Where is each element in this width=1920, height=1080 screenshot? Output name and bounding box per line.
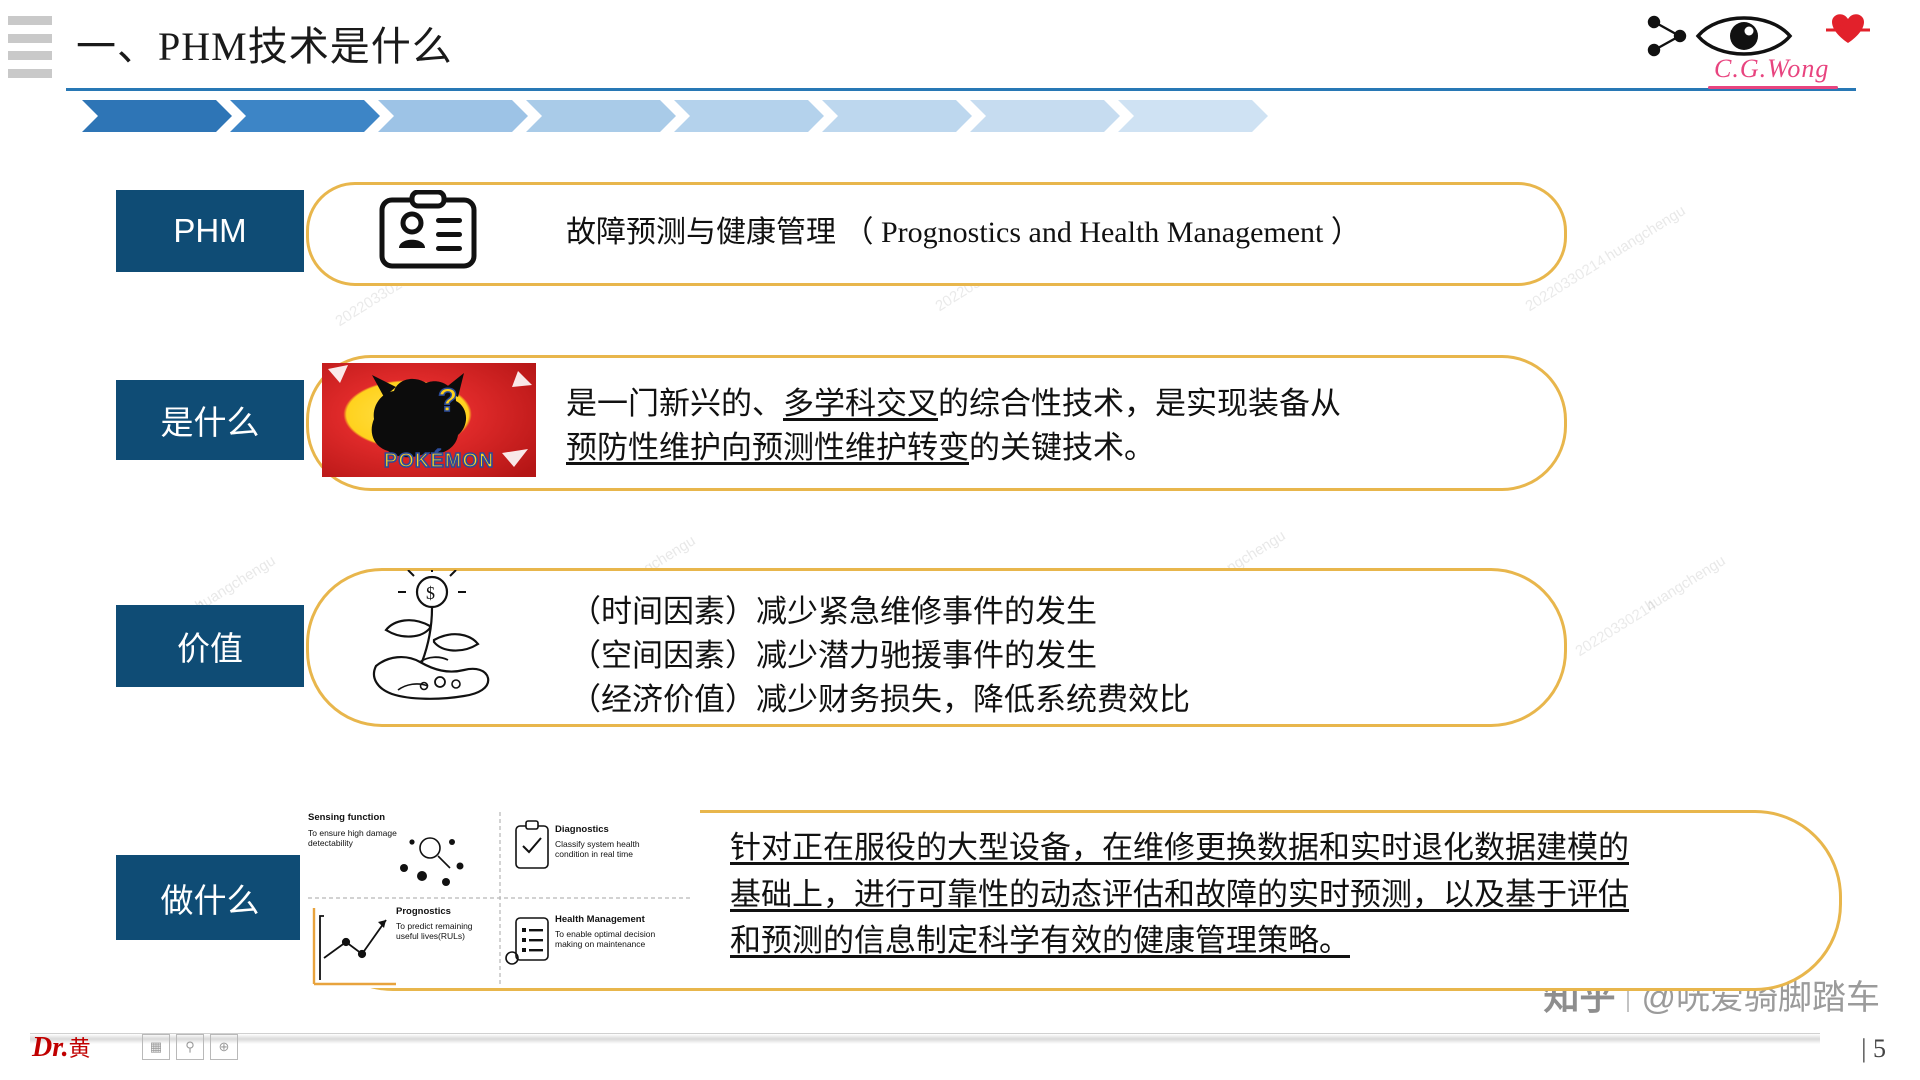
zoom-icon[interactable]: ⊕ [210, 1034, 238, 1060]
footer-brand-cn: 黄 [69, 1036, 91, 1061]
row-tag-label: 做什么 [161, 874, 260, 922]
row-tag-label: 价值 [177, 622, 243, 670]
what-line1-pre: 是一门新兴的、 [566, 386, 783, 421]
quadrant-1-text: Sensing function To ensure high damage d… [308, 812, 408, 848]
quadrant-4-body: To enable optimal decision making on mai… [555, 929, 670, 950]
ribbon-segment-1 [82, 100, 232, 132]
svg-text:POKÉMON: POKÉMON [384, 449, 494, 472]
row-text-phm: 故障预测与健康管理 （ Prognostics and Health Manag… [566, 212, 1361, 255]
brand-logo: C.G.Wong [1636, 10, 1886, 90]
logo-wordmark: C.G.Wong [1714, 54, 1829, 84]
ribbon-segment-7 [970, 100, 1120, 132]
chevron-ribbon [82, 100, 1262, 132]
ribbon-segment-4 [526, 100, 676, 132]
row-tag-do: 做什么 [116, 855, 304, 940]
page-number: | 5 [1861, 1034, 1886, 1064]
row-tag-label: PHM [173, 212, 246, 250]
watermark-text: 20220330214 [1572, 597, 1659, 660]
quadrant-4-title: Health Management [555, 914, 645, 925]
money-plant-hand-icon: $ [336, 570, 526, 725]
watermark-text: huangchengu [1602, 202, 1688, 265]
value-line: （空间因素）减少潜力驰援事件的发生 [570, 634, 1190, 678]
quadrant-4-text: Health Management To enable optimal deci… [555, 914, 670, 949]
slide-root: 一、PHM技术是什么 C.G.Wong [0, 0, 1920, 1080]
ribbon-segment-8 [1118, 100, 1268, 132]
search-icon[interactable]: ⚲ [176, 1034, 204, 1060]
row-text-line-2: 预防性维护向预测性维护转变的关键技术。 [566, 426, 1341, 470]
share-nodes-icon [1649, 17, 1685, 55]
quadrant-2-title: Diagnostics [555, 824, 609, 835]
svg-text:$: $ [426, 583, 435, 603]
ribbon-segment-2 [230, 100, 380, 132]
footer-brand: Dr.黄 [32, 1031, 91, 1064]
value-line: （经济价值）减少财务损失，降低系统费效比 [570, 678, 1190, 722]
phm-quadrant-diagram: Sensing function To ensure high damage d… [300, 808, 700, 988]
svg-text:?: ? [438, 382, 458, 418]
quadrant-3-text: Prognostics To predict remaining useful … [396, 906, 496, 941]
footer-brand-text: Dr. [32, 1032, 69, 1063]
what-line2-post: 的关键技术。 [969, 430, 1155, 465]
quadrant-1-body: To ensure high damage detectability [308, 828, 408, 849]
title-divider [66, 88, 1856, 91]
footer-divider [30, 1033, 1820, 1044]
do-line: 和预测的信息制定科学有效的健康管理策略。 [730, 918, 1629, 965]
grid-icon[interactable]: ▦ [142, 1034, 170, 1060]
quadrant-3-title: Prognostics [396, 906, 451, 917]
watermark-text: huangchengu [1642, 552, 1728, 615]
row-text-do: 针对正在服役的大型设备，在维修更换数据和实时退化数据建模的 基础上，进行可靠性的… [730, 825, 1629, 965]
quadrant-3-body: To predict remaining useful lives(RULs) [396, 921, 496, 942]
row-tag-label: 是什么 [161, 396, 260, 444]
do-line: 基础上，进行可靠性的动态评估和故障的实时预测，以及基于评估 [730, 872, 1629, 919]
eye-icon [1698, 18, 1790, 54]
id-badge-icon [368, 190, 488, 277]
row-tag-phm: PHM [116, 190, 304, 272]
do-line: 针对正在服役的大型设备，在维修更换数据和实时退化数据建模的 [730, 825, 1629, 872]
quadrant-2-text: Diagnostics Classify system health condi… [555, 824, 665, 859]
row-tag-value: 价值 [116, 605, 304, 687]
pokemon-silhouette-image: ? POKÉMON [322, 363, 536, 477]
row-text-value: （时间因素）减少紧急维修事件的发生 （空间因素）减少潜力驰援事件的发生 （经济价… [570, 590, 1190, 722]
page-title: 一、PHM技术是什么 [76, 14, 453, 72]
quadrant-1-title: Sensing function [308, 812, 385, 823]
what-line2-underline: 预防性维护向预测性维护转变 [566, 430, 969, 465]
what-line1-underline: 多学科交叉 [783, 386, 938, 421]
row-text-line-1: 是一门新兴的、多学科交叉的综合性技术，是实现装备从 [566, 382, 1341, 426]
heart-pulse-icon [1826, 14, 1870, 43]
quadrant-2-body: Classify system health condition in real… [555, 839, 665, 860]
ribbon-segment-6 [822, 100, 972, 132]
row-tag-what: 是什么 [116, 380, 304, 460]
value-line: （时间因素）减少紧急维修事件的发生 [570, 590, 1190, 634]
ribbon-segment-5 [674, 100, 824, 132]
logo-underline [1708, 86, 1838, 89]
ribbon-segment-3 [378, 100, 528, 132]
hamburger-icon [8, 16, 52, 78]
footer-icon-group: ▦ ⚲ ⊕ [142, 1034, 238, 1060]
row-text-what: 是一门新兴的、多学科交叉的综合性技术，是实现装备从 预防性维护向预测性维护转变的… [566, 382, 1341, 470]
what-line1-post: 的综合性技术，是实现装备从 [938, 386, 1341, 421]
